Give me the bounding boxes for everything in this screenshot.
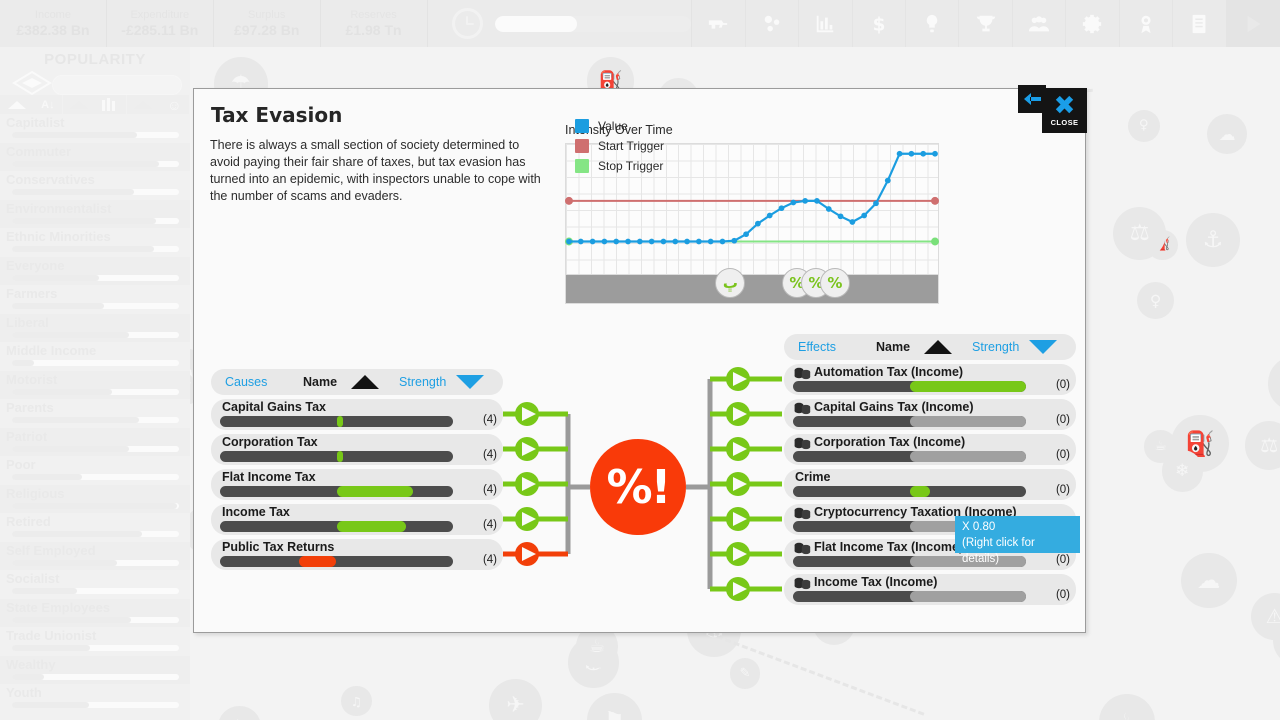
sidebar-sort-tab-size[interactable] [63, 95, 126, 114]
strength-slider[interactable] [220, 521, 453, 532]
row-value: (4) [483, 414, 497, 426]
popularity-row[interactable]: Environmentalist [0, 200, 190, 229]
popularity-row[interactable]: Parents [0, 399, 190, 428]
popularity-bar [12, 417, 179, 423]
row-label: Corporation Tax [222, 435, 318, 450]
strength-slider[interactable] [793, 486, 1026, 497]
close-icon: ✖ [1054, 94, 1076, 118]
effects-strength-label[interactable]: Strength [972, 340, 1019, 354]
toolbar-button-chart[interactable] [799, 0, 852, 47]
popularity-group-label: Parents [6, 399, 54, 416]
effect-row[interactable]: Automation Tax (Income)(0) [784, 364, 1076, 395]
tooltip-line-2: (Right click for details) [962, 535, 1073, 567]
settings-icon [1081, 13, 1103, 35]
stat-income: Income £382.38 Bn [0, 0, 107, 47]
legend-swatch-start-trigger [575, 139, 589, 153]
strength-slider[interactable] [220, 486, 453, 497]
toolbar-button-settings[interactable] [1066, 0, 1119, 47]
row-value: (4) [483, 484, 497, 496]
row-label: Income Tax (Income) [814, 575, 937, 590]
popularity-row[interactable]: Capitalist [0, 114, 190, 143]
stat-expenditure-label: Expenditure [130, 8, 189, 22]
effect-row[interactable]: Corporation Tax (Income)(0) [784, 434, 1076, 465]
toolbar-button-military[interactable] [692, 0, 745, 47]
legend-label-stop-trigger: Stop Trigger [598, 159, 663, 173]
legend-swatch-value [575, 119, 589, 133]
popularity-group-label: Environmentalist [6, 200, 111, 217]
cause-row[interactable]: Capital Gains Tax(4) [211, 399, 503, 430]
popularity-row[interactable]: Patriot [0, 428, 190, 457]
popularity-row[interactable]: Wealthy [0, 656, 190, 685]
back-arrow-icon [1022, 92, 1042, 106]
popularity-row[interactable]: Everyone [0, 257, 190, 286]
popularity-group-label: Retired [6, 513, 51, 530]
popularity-bar [12, 189, 179, 195]
causes-name-label[interactable]: Name [303, 375, 337, 389]
triangle-up-icon[interactable] [924, 340, 952, 354]
money-icon [794, 542, 811, 555]
triangle-down-icon[interactable] [456, 375, 484, 389]
money-icon [794, 367, 811, 380]
cause-row[interactable]: Flat Income Tax(4) [211, 469, 503, 500]
toolbar-button-economy[interactable]: $ [853, 0, 906, 47]
popularity-row[interactable]: State Employees [0, 599, 190, 628]
legend-item-stop-trigger: Stop Trigger [575, 156, 664, 176]
popularity-bar [12, 303, 179, 309]
row-value: (0) [1056, 449, 1070, 461]
causes-strength-label[interactable]: Strength [399, 375, 446, 389]
popularity-bar [12, 503, 179, 509]
popularity-row[interactable]: Ethnic Minorities [0, 228, 190, 257]
row-label: Automation Tax (Income) [814, 365, 963, 380]
row-label: Flat Income Tax [222, 470, 316, 485]
triangle-up-dim-icon-2 [134, 101, 152, 109]
sidebar-sort-tab-ascending[interactable]: A↓ [0, 95, 63, 114]
event-dialog: Tax Evasion There is always a small sect… [193, 88, 1086, 633]
effect-row[interactable]: Income Tax (Income)(0) [784, 574, 1076, 605]
popularity-row[interactable]: Motorist [0, 371, 190, 400]
popularity-emblem-icon [12, 70, 52, 96]
sidebar-header: POPULARITY [0, 47, 190, 95]
legend-label-start-trigger: Start Trigger [598, 139, 664, 153]
groups-icon [1028, 13, 1050, 35]
popularity-bar [12, 588, 179, 594]
strength-slider[interactable] [793, 416, 1026, 427]
popularity-bar [12, 674, 179, 680]
popularity-group-label: Commuter [6, 143, 71, 160]
legend-label-value: Value [598, 119, 628, 133]
military-icon [707, 13, 729, 35]
stat-surplus-value: £97.28 Bn [234, 22, 299, 39]
popularity-row[interactable]: Conservatives [0, 171, 190, 200]
popularity-group-label: Motorist [6, 371, 57, 388]
row-value: (0) [1056, 414, 1070, 426]
search-input[interactable] [52, 75, 182, 95]
row-label: Corporation Tax (Income) [814, 435, 965, 450]
row-value: (4) [483, 519, 497, 531]
stat-income-label: Income [35, 8, 71, 22]
clock-icon [452, 8, 483, 39]
top-status-bar: Income £382.38 Bn Expenditure -£285.11 B… [0, 0, 1280, 47]
popularity-row[interactable]: Farmers [0, 285, 190, 314]
popularity-group-label: Poor [6, 456, 36, 473]
popularity-bar [12, 246, 179, 252]
row-value: (0) [1056, 484, 1070, 496]
row-label: Flat Income Tax (Income) [814, 540, 963, 555]
popularity-group-label: Patriot [6, 428, 47, 445]
popularity-bar [12, 560, 179, 566]
popularity-group-label: Youth [6, 684, 42, 701]
popularity-bar [12, 332, 179, 338]
chart-event-markers: ڀ%%% [565, 275, 939, 304]
tooltip-line-1: X 0.80 [962, 519, 1073, 535]
cause-row[interactable]: Corporation Tax(4) [211, 434, 503, 465]
cause-row[interactable]: Income Tax(4) [211, 504, 503, 535]
popularity-row[interactable]: Youth [0, 684, 190, 713]
popularity-bar [12, 218, 179, 224]
sidebar-sort-tabs: A↓ ☺ [0, 95, 190, 114]
popularity-bar [12, 446, 179, 452]
ideas-icon [921, 13, 943, 35]
legend-item-value: Value [575, 116, 664, 136]
popularity-group-label: Self Employed [6, 542, 96, 559]
stat-surplus: Surplus £97.28 Bn [214, 0, 321, 47]
row-value: (4) [483, 554, 497, 566]
popularity-row[interactable]: Religious [0, 485, 190, 514]
causes-header: Causes Name Strength [211, 369, 503, 395]
row-label: Income Tax [222, 505, 290, 520]
play-icon [1242, 13, 1264, 35]
strength-slider[interactable] [220, 556, 453, 567]
popularity-bar [12, 702, 179, 708]
popularity-bar [12, 360, 179, 366]
effects-panel: Effects Name Strength Automation Tax (In… [784, 334, 1076, 609]
popularity-group-label: Ethnic Minorities [6, 228, 111, 245]
triangle-up-icon[interactable] [351, 375, 379, 389]
causes-kind-label[interactable]: Causes [211, 375, 303, 389]
chart-event-percent-icon[interactable]: % [820, 268, 850, 298]
popularity-group-label: Farmers [6, 285, 57, 302]
popularity-group-label: Everyone [6, 257, 65, 274]
turn-timer [428, 0, 693, 47]
stat-surplus-label: Surplus [248, 8, 285, 22]
strength-slider[interactable] [793, 451, 1026, 462]
strength-slider[interactable] [793, 381, 1026, 392]
popularity-row[interactable]: Self Employed [0, 542, 190, 571]
causes-rows: Capital Gains Tax(4)Corporation Tax(4)Fl… [211, 399, 503, 570]
legend-swatch-stop-trigger [575, 159, 589, 173]
stat-reserves: Reserves £1.98 Tn [321, 0, 428, 47]
popularity-bar [12, 617, 179, 623]
money-icon [794, 507, 811, 520]
money-icon [794, 577, 811, 590]
documents-icon [1188, 13, 1210, 35]
chart-icon [814, 13, 836, 35]
popularity-bar [12, 132, 179, 138]
stat-expenditure-value: -£285.11 Bn [121, 22, 198, 39]
close-button[interactable]: ✖ CLOSE [1042, 88, 1087, 133]
chart-event-population-icon[interactable]: ڀ [715, 268, 745, 298]
toolbar-button-play[interactable] [1227, 0, 1280, 47]
row-label: Capital Gains Tax (Income) [814, 400, 974, 415]
group-size-icon [101, 98, 119, 111]
popularity-bar [12, 645, 179, 651]
popularity-sidebar: POPULARITY A↓ ☺ CapitalistCommuterConser… [0, 47, 190, 720]
achievements-icon [975, 13, 997, 35]
sidebar-sort-tab-alpha-label: A↓ [41, 99, 54, 111]
popularity-row[interactable]: Retired [0, 513, 190, 542]
effects-header: Effects Name Strength [784, 334, 1076, 360]
close-button-label: CLOSE [1051, 118, 1079, 127]
popularity-bar [12, 275, 179, 281]
popularity-row[interactable]: Middle Income [0, 342, 190, 371]
effects-kind-label[interactable]: Effects [784, 340, 876, 354]
sidebar-sort-tab-mood[interactable]: ☺ [127, 95, 190, 114]
popularity-group-label: Wealthy [6, 656, 56, 673]
popularity-group-label: Conservatives [6, 171, 95, 188]
stat-reserves-value: £1.98 Tn [346, 22, 402, 39]
popularity-bar [12, 161, 179, 167]
popularity-bar [12, 474, 179, 480]
stat-expenditure: Expenditure -£285.11 Bn [107, 0, 214, 47]
money-icon [794, 437, 811, 450]
effect-row[interactable]: Capital Gains Tax (Income)(0) [784, 399, 1076, 430]
row-value: (0) [1056, 379, 1070, 391]
science-icon [761, 13, 783, 35]
popularity-group-label: Religious [6, 485, 65, 502]
row-label: Capital Gains Tax [222, 400, 326, 415]
toolbar-button-groups[interactable] [1013, 0, 1066, 47]
strength-slider[interactable] [793, 591, 1026, 602]
triangle-up-icon [8, 101, 26, 109]
popularity-group-label: Socialist [6, 570, 59, 587]
stat-income-value: £382.38 Bn [16, 22, 89, 39]
popularity-row[interactable]: Poor [0, 456, 190, 485]
awards-icon [1135, 13, 1157, 35]
strength-slider[interactable] [220, 416, 453, 427]
legend-item-start-trigger: Start Trigger [575, 136, 664, 156]
popularity-group-label: State Employees [6, 599, 110, 616]
popularity-row[interactable]: Liberal [0, 314, 190, 343]
popularity-group-label: Trade Unionist [6, 627, 96, 644]
row-label: Public Tax Returns [222, 540, 334, 555]
effects-rows: Automation Tax (Income)(0)Capital Gains … [784, 364, 1076, 605]
popularity-bar [12, 531, 179, 537]
triangle-down-icon[interactable] [1029, 340, 1057, 354]
toolbar-button-science[interactable] [746, 0, 799, 47]
stat-reserves-label: Reserves [350, 8, 396, 22]
row-value: (0) [1056, 589, 1070, 601]
causes-panel: Causes Name Strength Capital Gains Tax(4… [211, 369, 503, 574]
row-value: (4) [483, 449, 497, 461]
page-title: Tax Evasion [211, 103, 342, 127]
smiley-icon: ☺ [167, 97, 181, 113]
popularity-row[interactable]: Trade Unionist [0, 627, 190, 656]
popularity-group-label: Middle Income [6, 342, 96, 359]
money-icon [794, 402, 811, 415]
popularity-list: CapitalistCommuterConservativesEnvironme… [0, 114, 190, 713]
chart-legend: Value Start Trigger Stop Trigger [575, 116, 664, 176]
popularity-group-label: Capitalist [6, 114, 65, 131]
triangle-up-dim-icon [70, 101, 88, 109]
popularity-bar [12, 389, 179, 395]
effect-row[interactable]: Crime(0) [784, 469, 1076, 500]
effects-name-label[interactable]: Name [876, 340, 910, 354]
turn-progress-bar[interactable] [495, 16, 692, 32]
event-description: There is always a small section of socie… [210, 137, 550, 205]
popularity-row[interactable]: Commuter [0, 143, 190, 172]
strength-slider[interactable] [220, 451, 453, 462]
cause-row[interactable]: Public Tax Returns(4) [211, 539, 503, 570]
economy-icon: $ [868, 13, 890, 35]
toolbar-button-awards[interactable] [1120, 0, 1173, 47]
strength-tooltip: X 0.80 (Right click for details) [955, 516, 1080, 553]
popularity-group-label: Liberal [6, 314, 49, 331]
toolbar-button-achievements[interactable] [959, 0, 1012, 47]
popularity-row[interactable]: Socialist [0, 570, 190, 599]
toolbar-button-ideas[interactable] [906, 0, 959, 47]
toolbar-button-documents[interactable] [1173, 0, 1226, 47]
row-label: Crime [795, 470, 830, 485]
svg-text:$: $ [872, 14, 885, 35]
event-hub-node[interactable]: %! [590, 439, 686, 535]
